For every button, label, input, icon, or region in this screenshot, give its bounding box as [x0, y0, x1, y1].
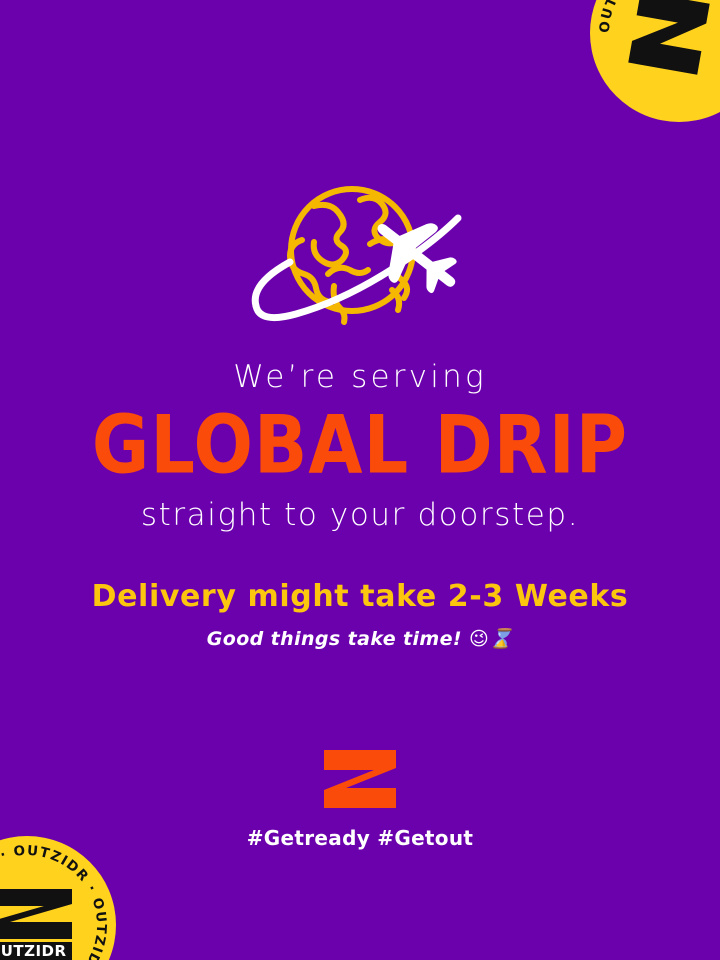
copy-block: We’re serving GLOBAL DRIP straight to yo…	[0, 360, 720, 650]
promo-poster: OUTZIDR · OUTZIDR · OUTZIDR ·	[0, 0, 720, 960]
outzidr-badge-top-right: OUTZIDR · OUTZIDR · OUTZIDR ·	[590, 0, 720, 122]
delivery-notice: Delivery might take 2-3 Weeks	[0, 579, 720, 615]
globe-airplane-illustration	[0, 178, 720, 338]
headline-text: GLOBAL DRIP	[0, 404, 720, 486]
badge-wordmark-bottom-left: OUTZIDR	[0, 942, 72, 960]
kicker-text: We’re serving	[0, 360, 720, 396]
badge-z-mark-bottom-left	[0, 888, 74, 940]
badge-core-bottom-left: OUTZIDR	[0, 884, 81, 960]
subline-text: straight to your doorstep.	[0, 498, 720, 534]
tagline-text: Good things take time! 😉⌛	[0, 628, 720, 651]
footer-lockup: #Getready #Getout	[0, 748, 720, 850]
brand-z-logo	[320, 748, 400, 810]
outzidr-badge-bottom-left: OUTZIDR · OUTZIDR · OUTZIDR · OUTZIDR	[0, 836, 116, 960]
badge-z-mark-top-right	[608, 0, 720, 93]
